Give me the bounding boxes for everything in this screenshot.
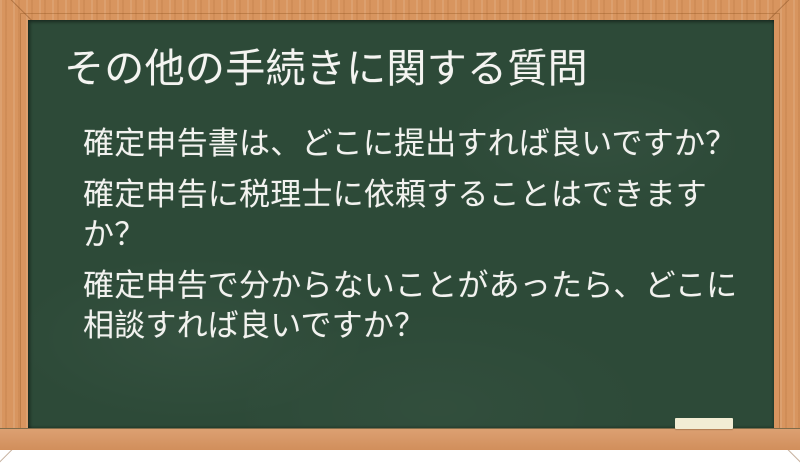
chalk-stick-icon <box>675 418 733 429</box>
board-title: その他の手続きに関する質問 <box>64 46 588 92</box>
question-list: 確定申告書は、どこに提出すれば良いですか？ 確定申告に税理士に依頼することはでき… <box>83 124 755 346</box>
chalkboard-surface: その他の手続きに関する質問 確定申告書は、どこに提出すれば良いですか？ 確定申告… <box>28 20 774 428</box>
question-item: 確定申告に税理士に依頼することはできますか？ <box>83 175 755 255</box>
question-item: 確定申告書は、どこに提出すれば良いですか？ <box>83 124 755 164</box>
question-item: 確定申告で分からないことがあったら、どこに相談すれば良いですか？ <box>83 266 755 346</box>
chalk-ledge <box>0 428 800 450</box>
chalkboard-scene: その他の手続きに関する質問 確定申告書は、どこに提出すれば良いですか？ 確定申告… <box>0 0 800 450</box>
